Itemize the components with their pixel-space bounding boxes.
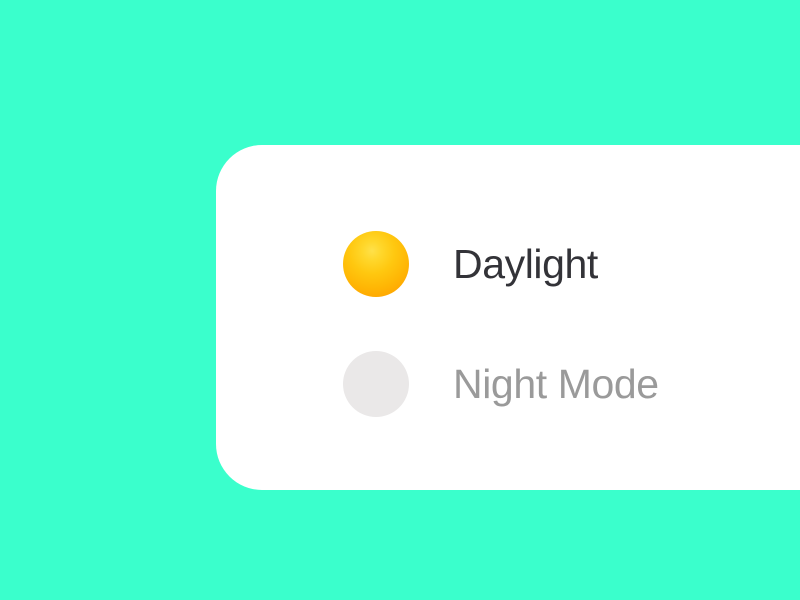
theme-selector-card: Daylight Night Mode <box>216 145 800 490</box>
theme-option-daylight[interactable]: Daylight <box>343 231 598 297</box>
theme-option-label-daylight: Daylight <box>453 244 598 285</box>
dim-orb-icon[interactable] <box>343 351 409 417</box>
theme-option-night-mode[interactable]: Night Mode <box>343 351 659 417</box>
sun-orb-icon[interactable] <box>343 231 409 297</box>
app-root: Daylight Night Mode <box>0 0 800 600</box>
theme-option-list: Daylight Night Mode <box>216 145 800 490</box>
theme-option-label-night-mode: Night Mode <box>453 364 659 405</box>
